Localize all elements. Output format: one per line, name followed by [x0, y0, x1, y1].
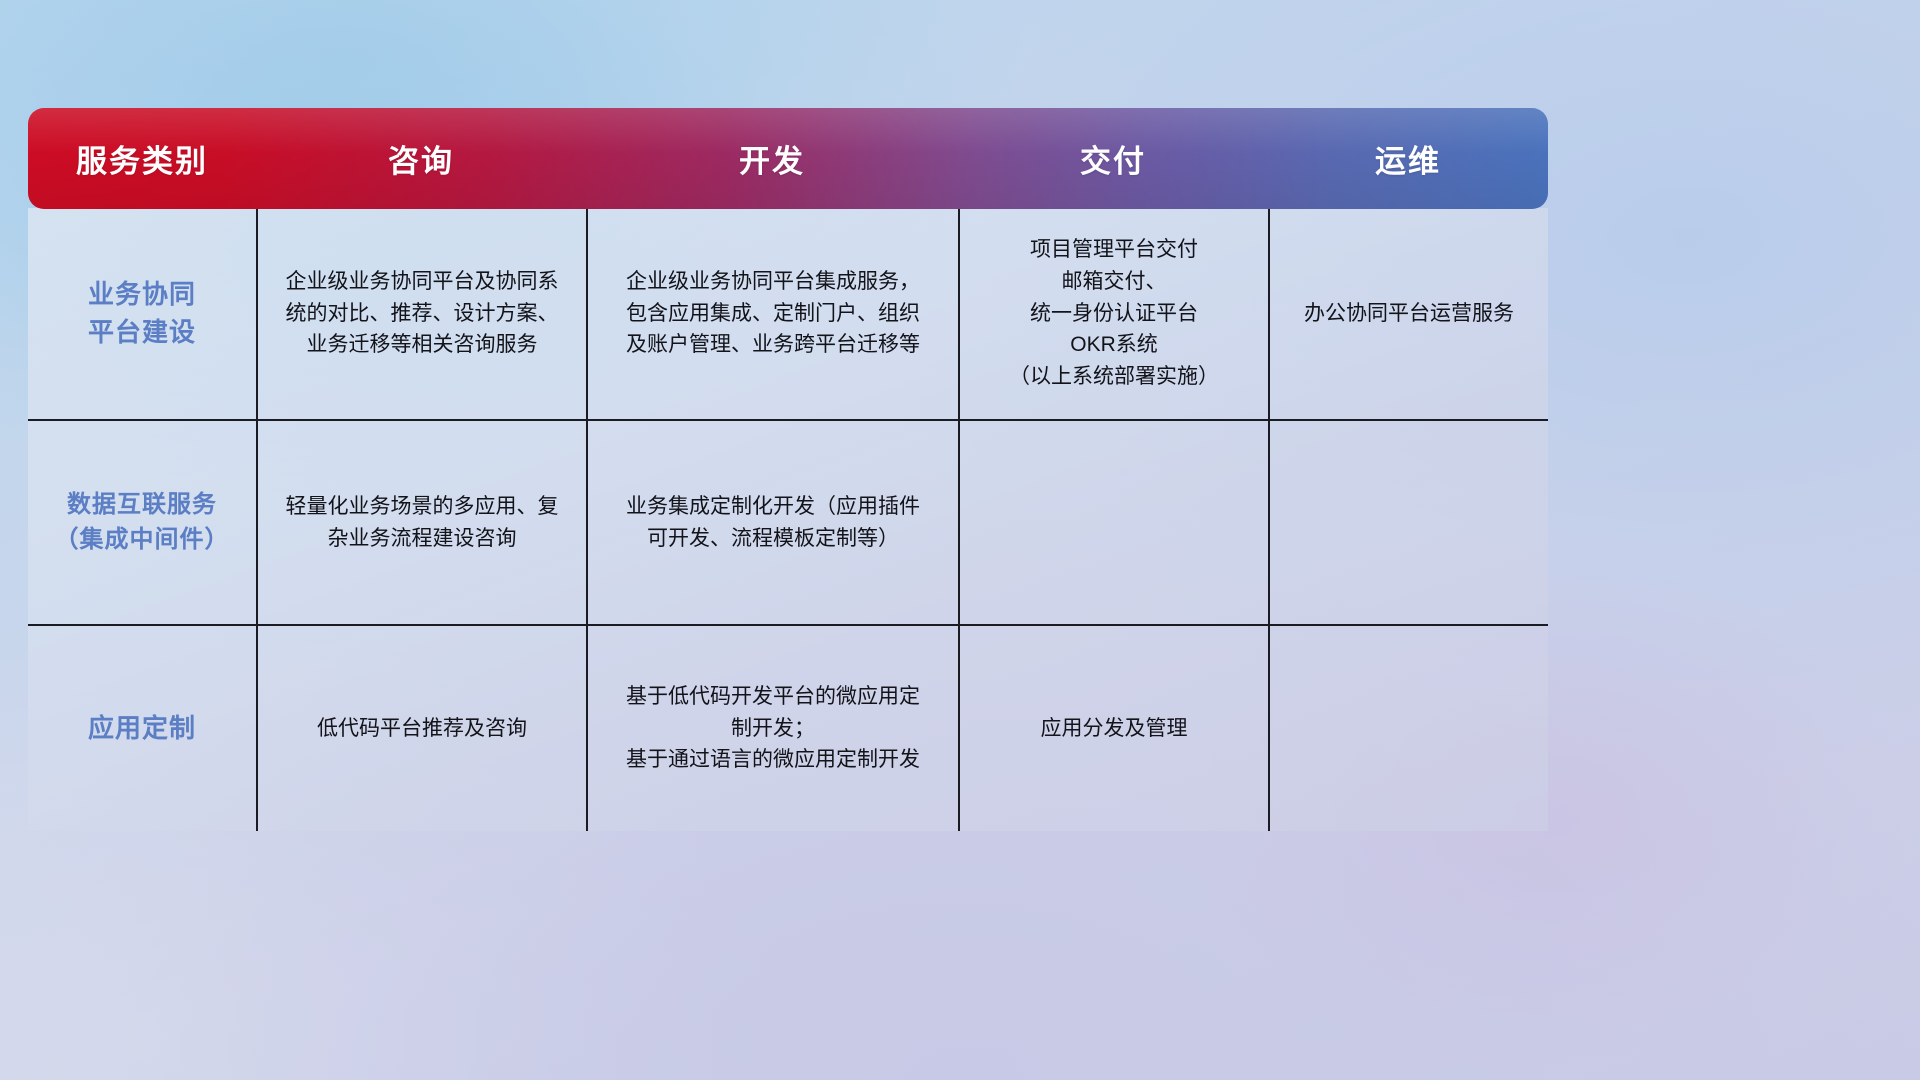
table-row: 应用定制 低代码平台推荐及咨询 基于低代码开发平台的微应用定 制开发； 基于通过… [28, 624, 1548, 831]
row-category-label: 数据互联服务 （集成中间件） [28, 421, 256, 624]
table-row: 数据互联服务 （集成中间件） 轻量化业务场景的多应用、复 杂业务流程建设咨询 业… [28, 419, 1548, 624]
table-header-row: 服务类别 咨询 开发 交付 运维 [28, 108, 1548, 209]
service-matrix-table: 服务类别 咨询 开发 交付 运维 业务协同 平台建设 企业级业务协同平台及协同系… [28, 108, 1548, 831]
column-header-category: 服务类别 [28, 108, 256, 209]
cell-consulting: 低代码平台推荐及咨询 [256, 626, 586, 831]
cell-operations [1268, 626, 1548, 831]
cell-delivery: 应用分发及管理 [958, 626, 1268, 831]
cell-operations: 办公协同平台运营服务 [1268, 208, 1548, 419]
column-header-development: 开发 [586, 108, 958, 209]
row-category-label: 应用定制 [28, 626, 256, 831]
column-header-operations: 运维 [1268, 108, 1548, 209]
cell-development: 业务集成定制化开发（应用插件 可开发、流程模板定制等） [586, 421, 958, 624]
cell-consulting: 轻量化业务场景的多应用、复 杂业务流程建设咨询 [256, 421, 586, 624]
column-header-consulting: 咨询 [256, 108, 586, 209]
row-category-label: 业务协同 平台建设 [28, 208, 256, 419]
column-header-delivery: 交付 [958, 108, 1268, 209]
table-row: 业务协同 平台建设 企业级业务协同平台及协同系 统的对比、推荐、设计方案、 业务… [28, 208, 1548, 419]
cell-development: 企业级业务协同平台集成服务， 包含应用集成、定制门户、组织 及账户管理、业务跨平… [586, 208, 958, 419]
cell-delivery: 项目管理平台交付 邮箱交付、 统一身份认证平台 OKR系统 （以上系统部署实施） [958, 208, 1268, 419]
cell-consulting: 企业级业务协同平台及协同系 统的对比、推荐、设计方案、 业务迁移等相关咨询服务 [256, 208, 586, 419]
table-body: 业务协同 平台建设 企业级业务协同平台及协同系 统的对比、推荐、设计方案、 业务… [28, 208, 1548, 831]
cell-development: 基于低代码开发平台的微应用定 制开发； 基于通过语言的微应用定制开发 [586, 626, 958, 831]
cell-operations [1268, 421, 1548, 624]
cell-delivery [958, 421, 1268, 624]
